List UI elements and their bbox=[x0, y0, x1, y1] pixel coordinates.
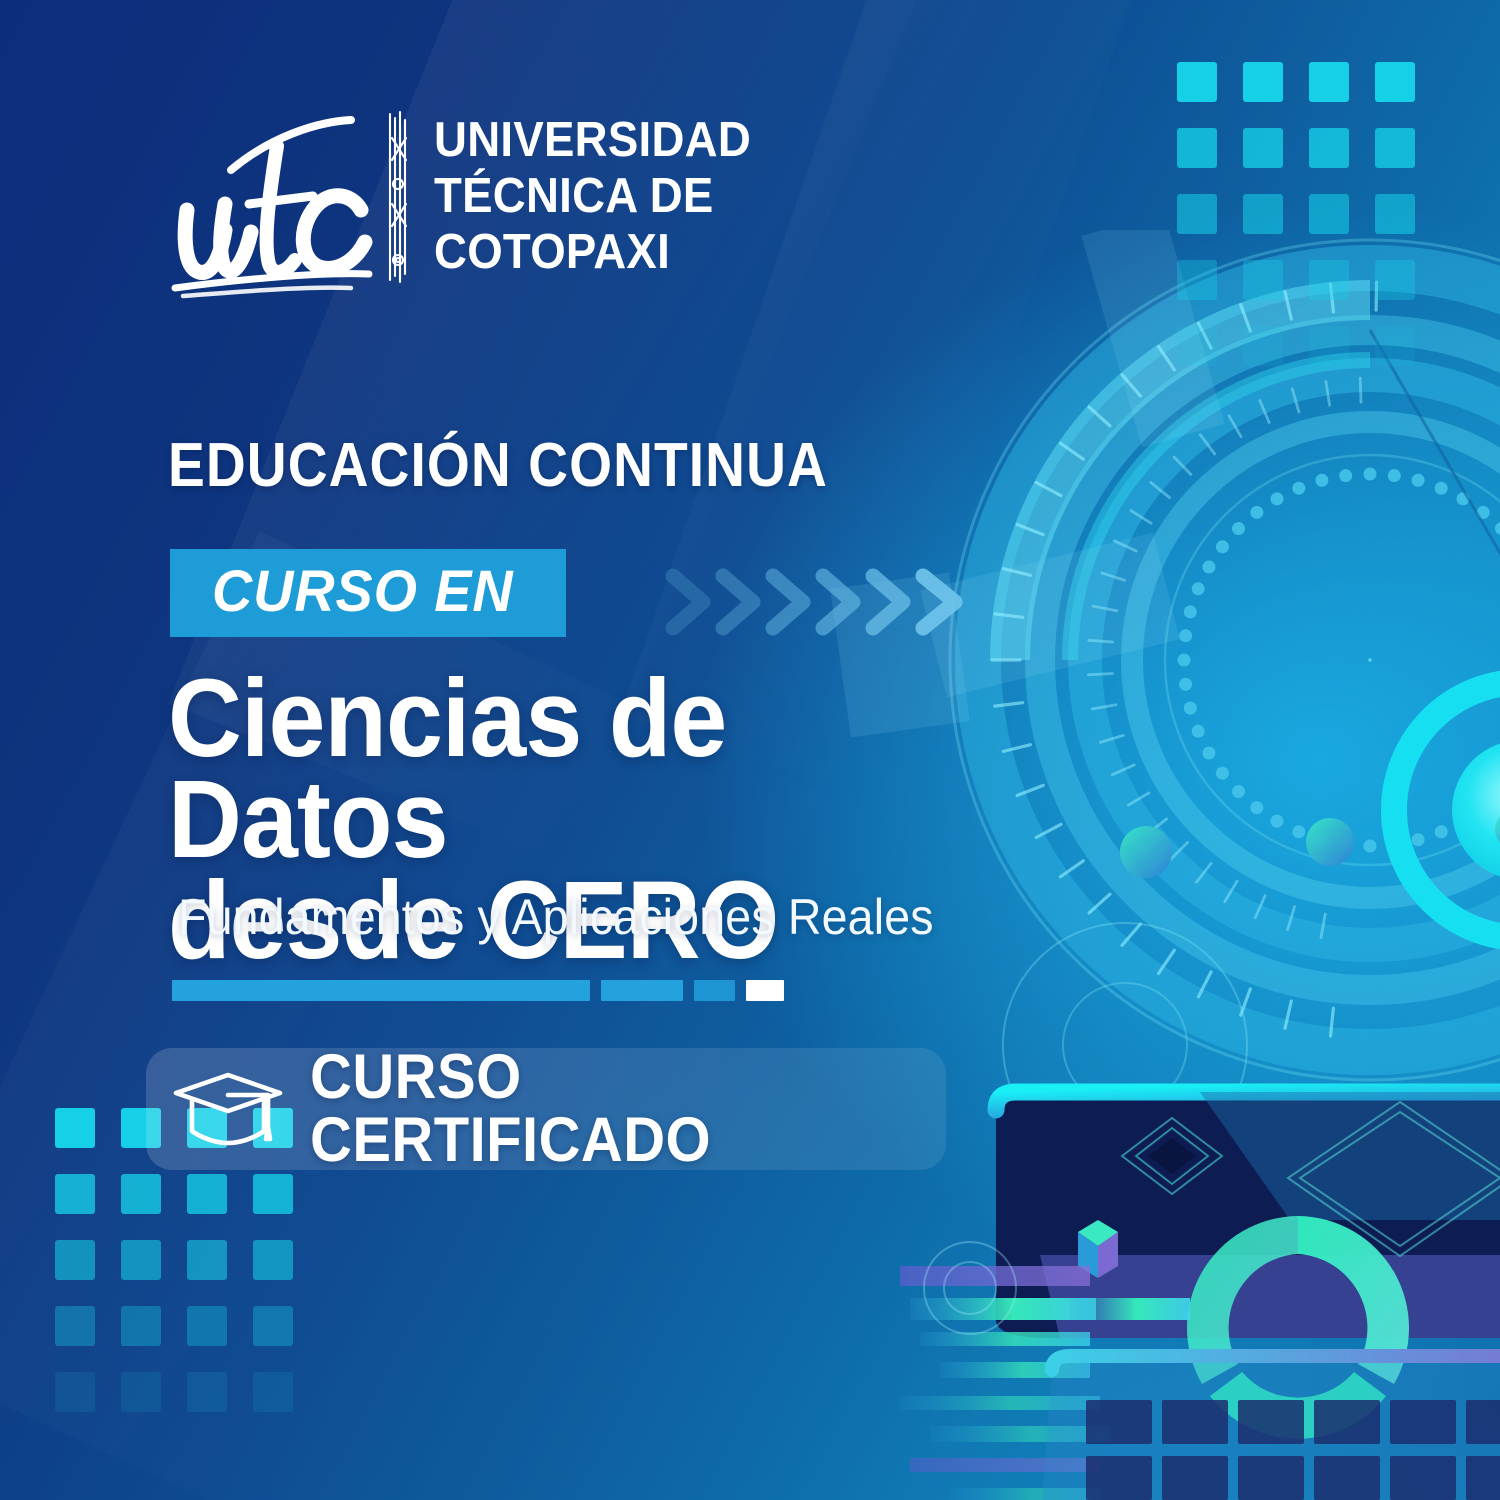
grid-square bbox=[1309, 128, 1349, 168]
andean-glyph-divider-icon bbox=[386, 108, 412, 286]
course-label-text: CURSO EN bbox=[212, 563, 514, 621]
grid-square bbox=[1309, 62, 1349, 102]
grid-square bbox=[1375, 62, 1415, 102]
divider-segment bbox=[601, 980, 683, 1001]
grid-square bbox=[1243, 194, 1283, 234]
grid-square bbox=[1309, 194, 1349, 234]
grid-square bbox=[253, 1174, 293, 1214]
grid-square bbox=[187, 1372, 227, 1412]
grid-square bbox=[121, 1372, 161, 1412]
grid-square bbox=[1243, 128, 1283, 168]
grid-square bbox=[1375, 128, 1415, 168]
course-label-band: CURSO EN bbox=[170, 549, 566, 637]
grid-square bbox=[253, 1240, 293, 1280]
grid-square bbox=[1177, 326, 1217, 366]
grid-square bbox=[253, 1306, 293, 1346]
divider-segment bbox=[172, 980, 590, 1001]
laptop-data-analytics-graphic bbox=[900, 1070, 1500, 1500]
divider-segment bbox=[694, 980, 735, 1001]
square-dot-grid-top-right bbox=[1177, 62, 1415, 366]
grid-square bbox=[55, 1240, 95, 1280]
grid-square bbox=[1177, 194, 1217, 234]
grid-square bbox=[187, 1306, 227, 1346]
grid-square bbox=[1177, 128, 1217, 168]
divider-segment bbox=[746, 980, 784, 1001]
course-promo-poster: UNIVERSIDAD TÉCNICA DE COTOPAXI EDUCACIÓ… bbox=[0, 0, 1500, 1500]
grid-square bbox=[1177, 260, 1217, 300]
grid-square bbox=[1243, 326, 1283, 366]
grid-square bbox=[55, 1372, 95, 1412]
grid-square bbox=[55, 1174, 95, 1214]
grid-square bbox=[55, 1108, 95, 1148]
grid-square bbox=[1309, 260, 1349, 300]
graduation-cap-icon bbox=[168, 1065, 288, 1153]
grid-square bbox=[253, 1372, 293, 1412]
grid-square bbox=[1375, 260, 1415, 300]
grid-square bbox=[121, 1306, 161, 1346]
page-subtitle: Fundamentos y Aplicaciones Reales bbox=[178, 888, 934, 946]
grid-square bbox=[121, 1174, 161, 1214]
grid-square bbox=[121, 1240, 161, 1280]
grid-square bbox=[1309, 326, 1349, 366]
university-name: UNIVERSIDAD TÉCNICA DE COTOPAXI bbox=[434, 113, 751, 281]
grid-square bbox=[1177, 62, 1217, 102]
grid-square bbox=[1375, 194, 1415, 234]
grid-square bbox=[187, 1174, 227, 1214]
grid-square bbox=[55, 1306, 95, 1346]
grid-square bbox=[1375, 326, 1415, 366]
grid-square bbox=[1243, 260, 1283, 300]
grid-square bbox=[187, 1240, 227, 1280]
segmented-divider bbox=[172, 980, 784, 1001]
chevron-right-icon-group bbox=[665, 556, 985, 648]
certified-course-badge[interactable]: CURSO CERTIFICADO bbox=[146, 1048, 946, 1170]
university-logo: UNIVERSIDAD TÉCNICA DE COTOPAXI bbox=[165, 92, 775, 302]
page-eyebrow: EDUCACIÓN CONTINUA bbox=[168, 430, 828, 501]
grid-square bbox=[1243, 62, 1283, 102]
certified-course-label: CURSO CERTIFICADO bbox=[310, 1046, 895, 1172]
utc-script-logo-icon bbox=[165, 92, 380, 302]
